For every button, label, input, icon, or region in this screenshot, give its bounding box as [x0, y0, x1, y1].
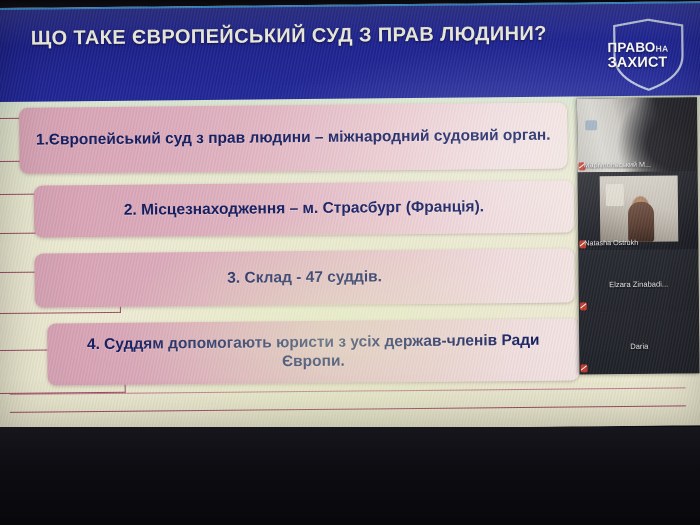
photo-of-screen: ЩО ТАКЕ ЄВРОПЕЙСЬКИЙ СУД З ПРАВ ЛЮДИНИ? … — [0, 0, 700, 525]
participant-name: Маріупольський М... — [584, 160, 694, 169]
monitor-bezel-bottom — [0, 427, 700, 525]
participant-name: Natasha Ostrukh — [584, 238, 694, 247]
brand-line-2: ЗАХИСТ — [607, 55, 699, 71]
participant-tile[interactable]: Elzara Zinabadi... — [578, 249, 699, 312]
brand-logo: ПРАВОНА ЗАХИСТ — [596, 11, 700, 96]
participant-camera-feed — [600, 175, 679, 242]
content-card-text: 3. Склад - 47 суддів. — [213, 267, 396, 288]
participant-name: Elzara Zinabadi... — [579, 280, 699, 289]
participant-tile[interactable]: Маріупольський М... — [577, 97, 698, 172]
title-band-sheen — [0, 3, 700, 102]
brand-line-1: ПРАВО — [607, 40, 655, 55]
content-card: 2. Місцезнаходження – м. Страсбург (Фран… — [34, 180, 574, 237]
page-title: ЩО ТАКЕ ЄВРОПЕЙСЬКИЙ СУД З ПРАВ ЛЮДИНИ? — [16, 22, 561, 53]
content-card-text: 2. Місцезнаходження – м. Страсбург (Фран… — [110, 198, 498, 221]
video-conference-panel[interactable]: Маріупольський М... Natasha Ostrukh Elza… — [577, 97, 700, 374]
content-card: 3. Склад - 47 суддів. — [34, 248, 574, 307]
screen-surface: ЩО ТАКЕ ЄВРОПЕЙСЬКИЙ СУД З ПРАВ ЛЮДИНИ? … — [0, 1, 700, 432]
participant-tile[interactable]: Daria — [579, 311, 700, 374]
participant-name: Daria — [579, 342, 699, 351]
brand-line-1-small: НА — [656, 44, 669, 54]
slide-title-band: ЩО ТАКЕ ЄВРОПЕЙСЬКИЙ СУД З ПРАВ ЛЮДИНИ? … — [0, 3, 700, 102]
content-card-text: 1.Європейський суд з прав людини – міжна… — [22, 126, 565, 151]
participant-tile[interactable]: Natasha Ostrukh — [578, 171, 699, 250]
decorative-rule-lower — [10, 405, 686, 412]
content-card: 4. Суддям допомогають юристи з усіх держ… — [47, 318, 580, 385]
content-card: 1.Європейський суд з прав людини – міжна… — [19, 103, 568, 174]
content-card-text: 4. Суддям допомогають юристи з усіх держ… — [47, 330, 579, 374]
brand-wordmark: ПРАВОНА ЗАХИСТ — [607, 40, 699, 70]
mic-muted-icon — [580, 364, 587, 372]
mic-muted-icon — [580, 302, 587, 310]
